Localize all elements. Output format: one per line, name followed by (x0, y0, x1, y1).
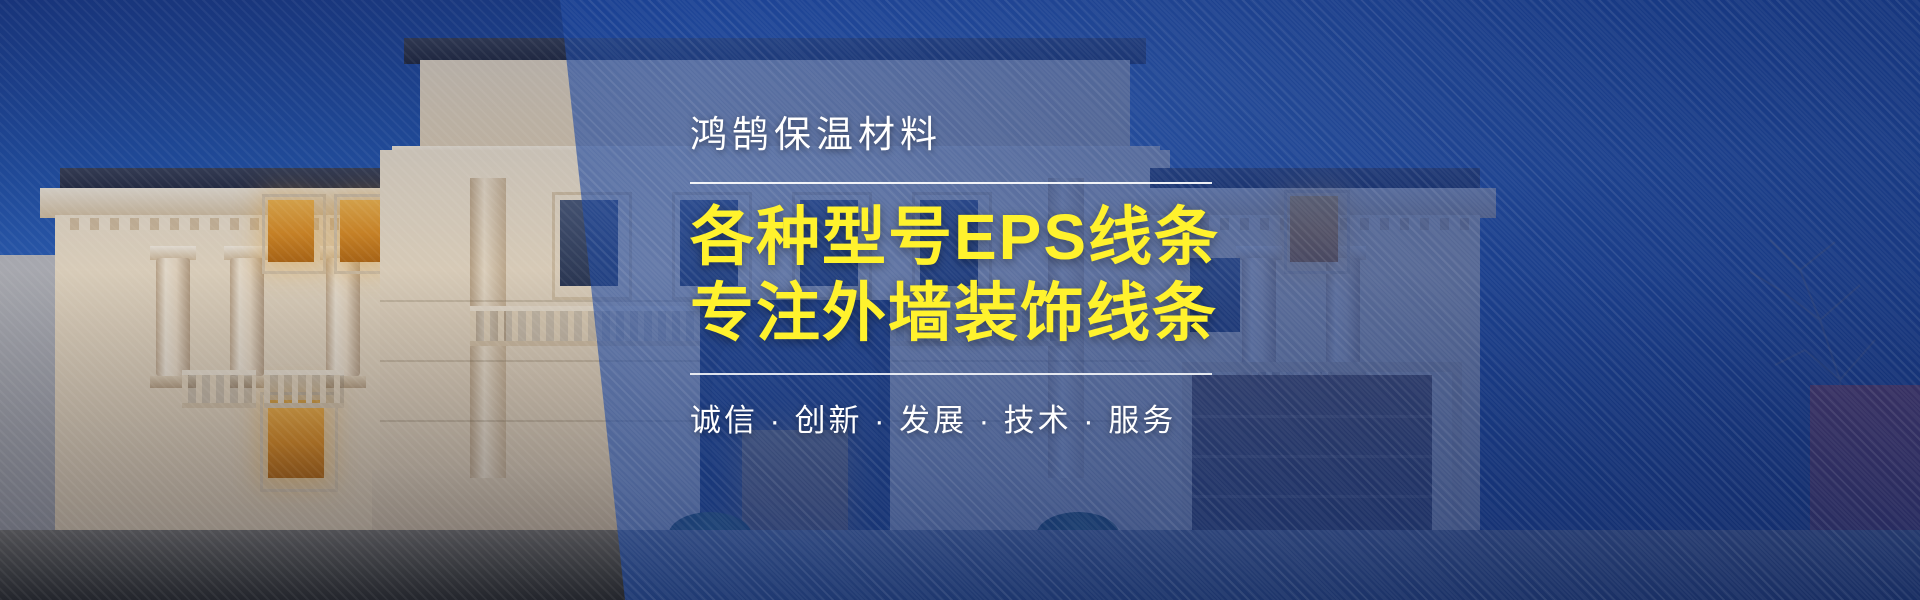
divider-top (690, 182, 1212, 184)
divider-bottom (690, 373, 1212, 375)
banner-copy: 鸿鹄保温材料 各种型号EPS线条 专注外墙装饰线条 诚信 · 创新 · 发展 ·… (690, 112, 1390, 440)
headline-line-2: 专注外墙装饰线条 (690, 276, 1390, 352)
brand-name: 鸿鹄保温材料 (690, 112, 1390, 158)
tagline: 诚信 · 创新 · 发展 · 技术 · 服务 (690, 395, 1390, 440)
headline-line-1: 各种型号EPS线条 (690, 200, 1390, 276)
hero-banner: 鸿鹄保温材料 各种型号EPS线条 专注外墙装饰线条 诚信 · 创新 · 发展 ·… (0, 0, 1920, 600)
